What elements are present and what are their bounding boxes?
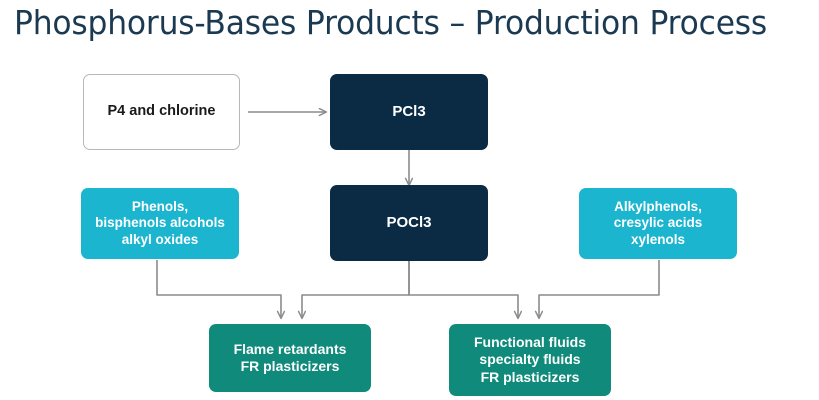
node-pcl3[interactable]: PCl3 xyxy=(330,74,488,150)
node-flame-retardants[interactable]: Flame retardants FR plasticizers xyxy=(209,324,371,392)
node-pcl3-label: PCl3 xyxy=(330,103,488,121)
connector-pocl3-to-flame-retardants xyxy=(302,260,409,318)
node-functional-fluids[interactable]: Functional fluids specialty fluids FR pl… xyxy=(449,324,611,396)
node-flame-retardants-label: Flame retardants FR plasticizers xyxy=(209,341,371,375)
node-pocl3-label: POCl3 xyxy=(330,214,488,232)
page-title: Phosphorus-Bases Products – Production P… xyxy=(14,3,774,42)
node-feedstock[interactable]: P4 and chlorine xyxy=(83,74,240,150)
connector-left-reagents-to-flame-retardants xyxy=(157,260,281,318)
node-right-reagents[interactable]: Alkylphenols, cresylic acids xylenols xyxy=(579,188,737,259)
node-pocl3[interactable]: POCl3 xyxy=(330,185,488,261)
node-feedstock-label: P4 and chlorine xyxy=(84,103,239,121)
node-left-reagents[interactable]: Phenols, bisphenols alcohols alkyl oxide… xyxy=(81,188,239,259)
node-right-reagents-label: Alkylphenols, cresylic acids xylenols xyxy=(579,199,737,248)
slide-canvas: Phosphorus-Bases Products – Production P… xyxy=(0,0,819,400)
connector-pocl3-to-functional-fluids xyxy=(409,260,518,318)
node-left-reagents-label: Phenols, bisphenols alcohols alkyl oxide… xyxy=(81,199,239,248)
connector-right-reagents-to-functional-fluids xyxy=(539,260,659,318)
node-functional-fluids-label: Functional fluids specialty fluids FR pl… xyxy=(449,334,611,385)
